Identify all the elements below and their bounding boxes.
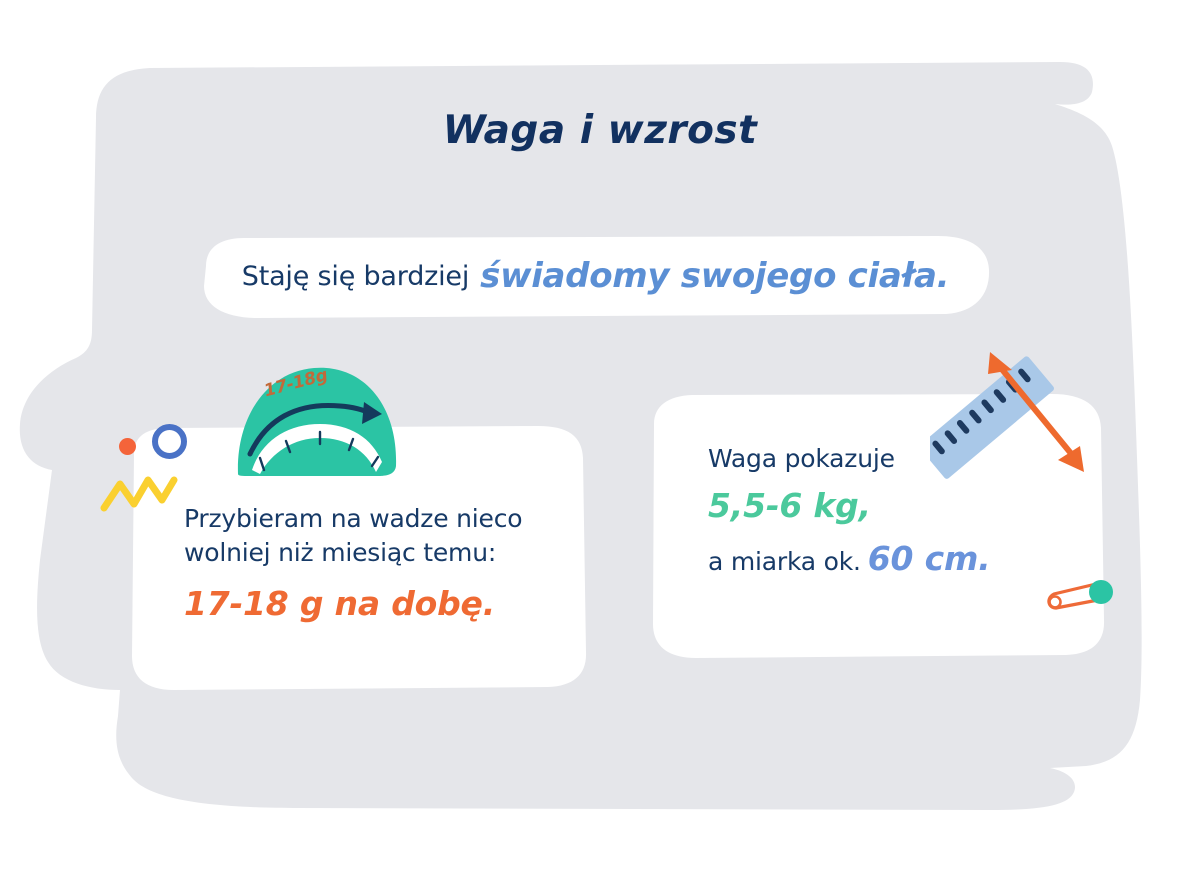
safety-pin-icon xyxy=(1040,578,1120,622)
card-right-line2-plain: a miarka ok. xyxy=(708,547,861,576)
banner-accent-text: świadomy swojego ciała. xyxy=(480,256,949,296)
page-title: Waga i wzrost xyxy=(0,108,1200,153)
orange-dot-icon xyxy=(119,438,136,455)
card-left-line1: Przybieram na wadze nieco xyxy=(184,502,564,536)
blue-ring-icon xyxy=(152,424,187,459)
banner-plain-text: Staję się bardziej xyxy=(242,261,469,292)
ruler-icon xyxy=(930,340,1110,500)
card-right-length: 60 cm. xyxy=(868,539,991,578)
infographic-canvas: Waga i wzrost Staję się bardziej świadom… xyxy=(0,0,1200,884)
card-right-length-row: a miarka ok.60 cm. xyxy=(708,539,1078,578)
banner-text-row: Staję się bardziej świadomy swojego ciał… xyxy=(198,232,993,320)
yellow-zigzag-icon xyxy=(100,470,180,516)
card-left-line2: wolniej niż miesiąc temu: xyxy=(184,536,564,570)
card-left-body: Przybieram na wadze nieco wolniej niż mi… xyxy=(184,502,564,623)
card-left-highlight: 17-18 g na dobę. xyxy=(184,585,564,623)
subtitle-banner: Staję się bardziej świadomy swojego ciał… xyxy=(198,232,993,320)
